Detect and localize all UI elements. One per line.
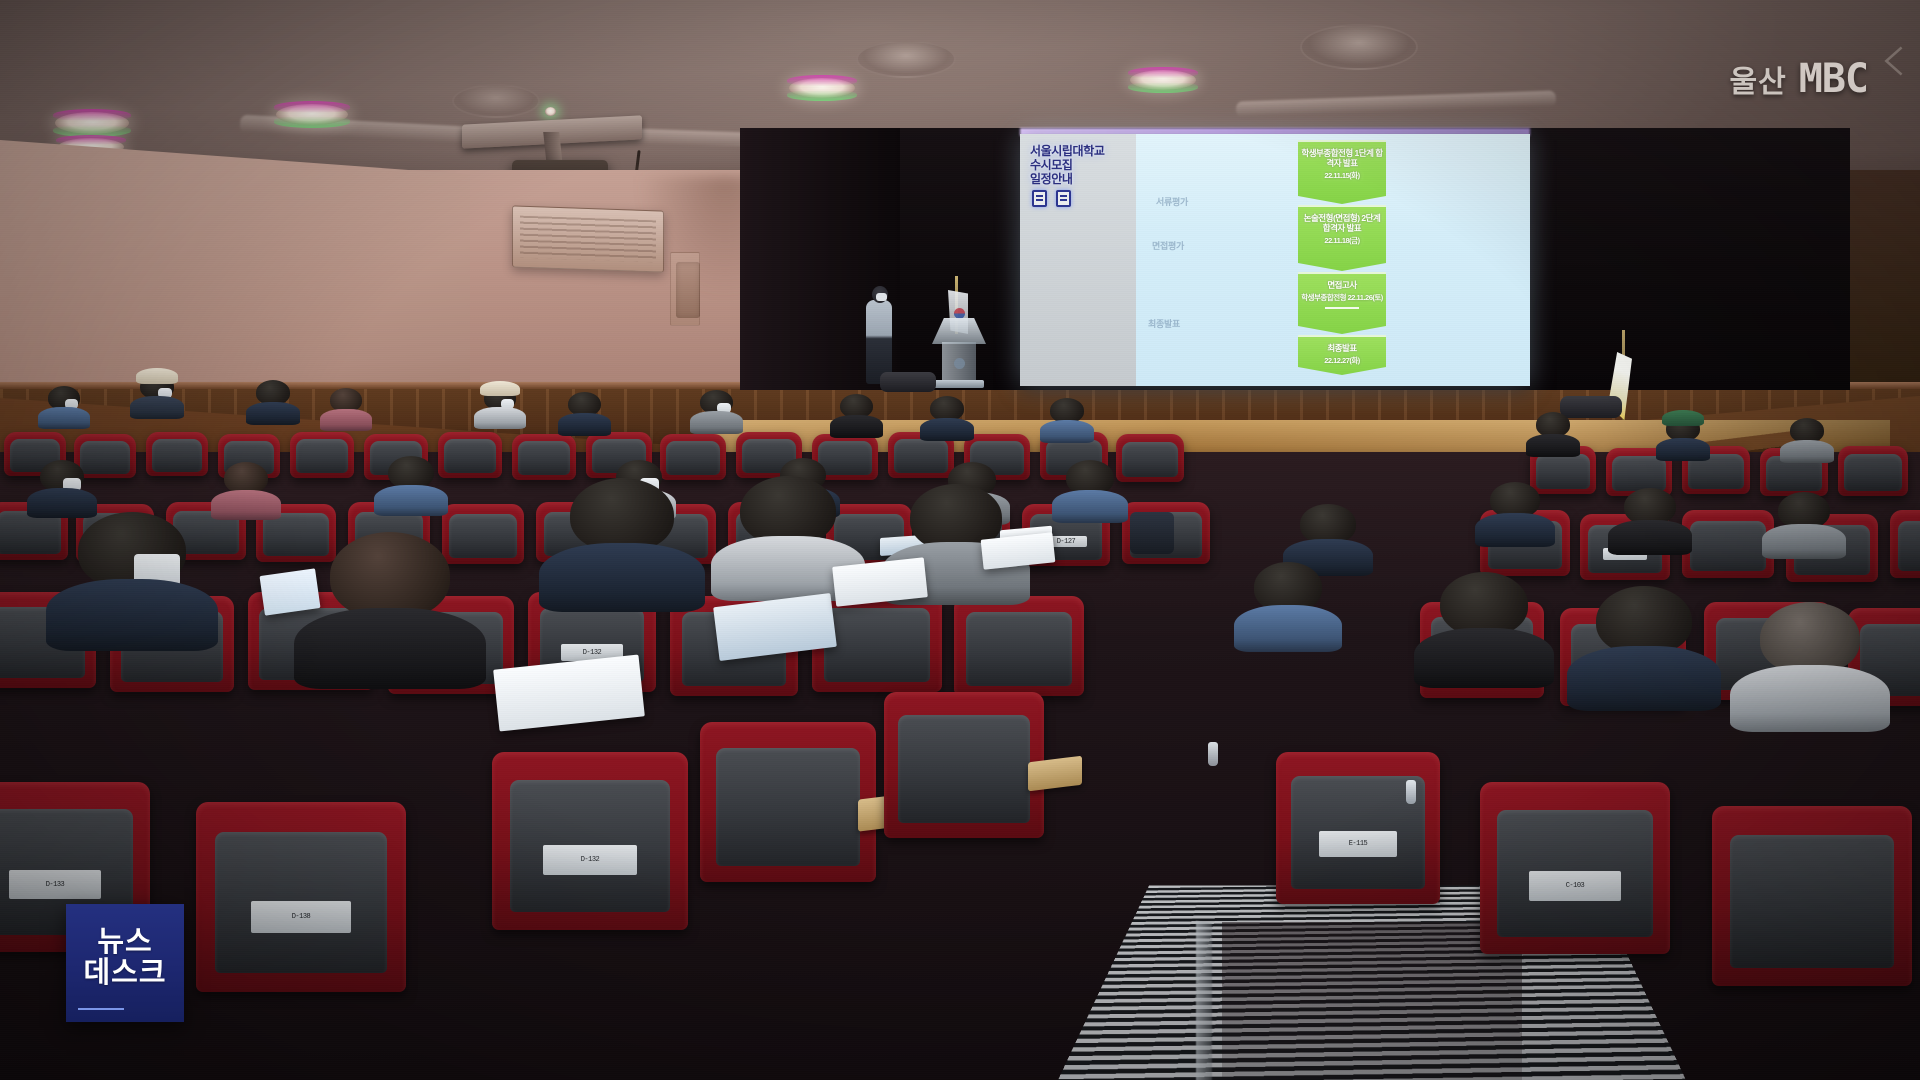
ceiling-vent-ring bbox=[856, 40, 956, 78]
water-bottle[interactable] bbox=[1406, 780, 1416, 804]
news-desk-program-logo: 뉴스 데스크 bbox=[66, 904, 184, 1022]
baseball-cap bbox=[480, 381, 520, 396]
seat[interactable]: D-132 bbox=[492, 752, 688, 930]
person-shoulders bbox=[38, 407, 89, 429]
lectern bbox=[932, 318, 986, 388]
slide-title: 서울시립대학교 수시모집 일정안내 bbox=[1030, 144, 1140, 186]
person-head bbox=[330, 532, 450, 619]
seat-back bbox=[1690, 521, 1765, 571]
lectern-base bbox=[934, 380, 984, 388]
seat[interactable] bbox=[1712, 806, 1912, 986]
person-shoulders bbox=[46, 579, 219, 651]
audience-member bbox=[1760, 602, 1860, 718]
seat-number-plate: E-115 bbox=[1319, 831, 1398, 857]
seat-back bbox=[1730, 835, 1894, 968]
admission-schedule-flowchart: 학생부종합전형 1단계 합격자 발표 22.11.15(화) 논술전형(면접형)… bbox=[1298, 140, 1386, 386]
lectern-emblem-icon bbox=[954, 358, 965, 369]
wall-hvac-unit bbox=[512, 205, 664, 272]
flow-step: 최종발표 22.12.27(화) bbox=[1298, 335, 1386, 375]
ceiling-downlight bbox=[789, 78, 855, 98]
seat-number-plate: D-132 bbox=[543, 845, 637, 875]
seat[interactable] bbox=[1890, 510, 1920, 578]
audience-member bbox=[484, 386, 516, 424]
seat[interactable]: C-103 bbox=[1480, 782, 1670, 954]
corner-bug-icon bbox=[1870, 44, 1906, 78]
person-shoulders bbox=[690, 411, 743, 434]
stage-monitor-speaker bbox=[880, 372, 936, 392]
seat-number-plate: D-138 bbox=[251, 901, 352, 933]
slide-left-label: 면접평가 bbox=[1152, 240, 1184, 252]
person-head bbox=[1596, 586, 1692, 655]
person-head bbox=[1760, 602, 1860, 674]
seat[interactable]: D-138 bbox=[196, 802, 406, 992]
person-shoulders bbox=[830, 415, 883, 438]
flow-step-title: 면접고사 bbox=[1300, 280, 1384, 290]
seat[interactable] bbox=[1682, 510, 1774, 578]
aisle-handrail[interactable] bbox=[1196, 921, 1212, 1080]
seat[interactable] bbox=[146, 432, 208, 476]
person-shoulders bbox=[539, 543, 705, 613]
audience-member bbox=[330, 388, 362, 426]
seat-back bbox=[518, 441, 570, 475]
audience-seating-area: D-127 D-132 bbox=[0, 452, 1920, 1080]
seat-back bbox=[894, 439, 948, 473]
person-shoulders bbox=[558, 413, 611, 436]
person-shoulders bbox=[374, 485, 448, 516]
audience-member bbox=[930, 396, 964, 436]
audience-member bbox=[256, 380, 290, 420]
backpack[interactable] bbox=[1130, 512, 1174, 554]
baseball-cap bbox=[1662, 410, 1704, 426]
flow-step-title: 최종발표 bbox=[1300, 343, 1384, 353]
lectern-top bbox=[932, 318, 986, 344]
document-icon bbox=[1056, 190, 1071, 207]
seat[interactable] bbox=[438, 432, 502, 478]
person-shoulders bbox=[1780, 440, 1834, 463]
baseball-cap bbox=[136, 368, 178, 384]
ceiling-vent-ring bbox=[1300, 24, 1418, 70]
seat[interactable] bbox=[290, 432, 354, 478]
person-shoulders bbox=[474, 407, 525, 429]
ceiling-indicator-light bbox=[545, 107, 556, 116]
slide-left-label: 서류평가 bbox=[1156, 196, 1188, 208]
audience-member bbox=[568, 392, 601, 431]
person-shoulders bbox=[1526, 434, 1580, 457]
audience-member bbox=[1254, 562, 1322, 642]
person-head bbox=[570, 478, 674, 552]
seat-back bbox=[444, 439, 496, 473]
audience-member bbox=[40, 460, 84, 512]
flow-step-title: 논술전형(면접형) 2단계 합격자 발표 bbox=[1300, 213, 1384, 233]
wall-acoustic-panel bbox=[670, 252, 700, 326]
seat-back bbox=[1122, 442, 1178, 478]
person-shoulders bbox=[130, 396, 184, 419]
person-shoulders bbox=[1234, 605, 1343, 651]
seat[interactable] bbox=[954, 596, 1084, 696]
audience-member bbox=[330, 532, 450, 672]
seat-number-plate: C-103 bbox=[1529, 871, 1620, 900]
seat-writing-tablet[interactable] bbox=[1028, 756, 1082, 792]
person-shoulders bbox=[1730, 665, 1890, 732]
flow-step-date: 학생부종합전형 22.11.26(토) bbox=[1300, 293, 1384, 303]
person-shoulders bbox=[1414, 628, 1555, 688]
seat[interactable] bbox=[442, 504, 524, 564]
person-shoulders bbox=[1608, 520, 1691, 555]
seat[interactable] bbox=[884, 692, 1044, 838]
flow-step-date: 22.11.15(화) bbox=[1300, 171, 1384, 181]
flow-step-date: 22.12.27(화) bbox=[1300, 356, 1384, 366]
person-shoulders bbox=[920, 418, 974, 441]
ceiling-downlight bbox=[1130, 70, 1196, 90]
slide-title-line-3: 일정안내 bbox=[1030, 172, 1140, 186]
document-icon bbox=[1032, 190, 1047, 207]
person-shoulders bbox=[1656, 438, 1710, 461]
flow-step: 학생부종합전형 1단계 합격자 발표 22.11.15(화) bbox=[1298, 140, 1386, 204]
seat[interactable] bbox=[660, 434, 726, 480]
slide-icon-row bbox=[1032, 190, 1071, 207]
seat-back bbox=[1898, 521, 1920, 571]
audience-member bbox=[1536, 412, 1570, 452]
seat-back bbox=[716, 748, 860, 866]
audience-member bbox=[840, 394, 873, 433]
person-shoulders bbox=[246, 402, 300, 425]
seat-back bbox=[966, 612, 1073, 686]
person-shoulders bbox=[1762, 524, 1845, 559]
slide-left-label: 최종발표 bbox=[1148, 318, 1180, 330]
person-head bbox=[1254, 562, 1322, 612]
audience-member bbox=[78, 512, 186, 636]
audience-member bbox=[48, 386, 80, 424]
seat-back bbox=[80, 441, 131, 474]
audience-member bbox=[1624, 488, 1676, 548]
audience-member bbox=[740, 476, 836, 588]
ceiling-downlight bbox=[55, 112, 129, 134]
slide-title-line-2: 수시모집 bbox=[1030, 158, 1140, 172]
tablet-device[interactable] bbox=[259, 568, 320, 615]
seat[interactable] bbox=[512, 434, 576, 480]
flow-step-divider bbox=[1325, 307, 1359, 309]
seat[interactable]: E-115 bbox=[1276, 752, 1440, 904]
person-shoulders bbox=[1567, 646, 1721, 711]
audience-member bbox=[388, 456, 434, 510]
open-notebook bbox=[493, 655, 645, 732]
seat-back bbox=[1536, 454, 1590, 490]
face-mask-icon bbox=[876, 293, 887, 301]
audience-member bbox=[1666, 416, 1700, 456]
person-shoulders bbox=[1475, 513, 1555, 547]
seat-number-plate: D-133 bbox=[9, 870, 100, 899]
seat[interactable] bbox=[700, 722, 876, 882]
audience-member bbox=[570, 478, 674, 598]
flow-step-title: 학생부종합전형 1단계 합격자 발표 bbox=[1300, 148, 1384, 168]
seat-back bbox=[1612, 456, 1666, 492]
flow-step: 논술전형(면접형) 2단계 합격자 발표 22.11.18(금) bbox=[1298, 205, 1386, 271]
broadcast-video-frame: 서울시립대학교 수시모집 일정안내 서류평가 면접평가 최종발표 학생부종합전형… bbox=[0, 0, 1920, 1080]
program-logo-underline bbox=[78, 1008, 124, 1010]
program-title-line-1: 뉴스 bbox=[97, 927, 152, 958]
flow-step: 면접고사 학생부종합전형 22.11.26(토) bbox=[1298, 272, 1386, 334]
seat-back bbox=[818, 441, 872, 475]
audience-member bbox=[1790, 418, 1824, 458]
audience-member bbox=[1050, 398, 1084, 438]
person-shoulders bbox=[1040, 420, 1094, 443]
ceiling-downlight bbox=[276, 104, 348, 125]
water-bottle[interactable] bbox=[1208, 742, 1218, 766]
slide-title-line-1: 서울시립대학교 bbox=[1030, 144, 1140, 158]
person-head bbox=[740, 476, 836, 545]
audience-member bbox=[140, 374, 174, 414]
audience-member bbox=[700, 390, 733, 429]
flow-step-date: 22.11.18(금) bbox=[1300, 236, 1384, 246]
seat-back bbox=[666, 441, 720, 475]
audience-member bbox=[1778, 492, 1830, 552]
audience-member bbox=[1300, 504, 1356, 568]
seat-back bbox=[898, 715, 1029, 823]
audience-member bbox=[1440, 572, 1528, 676]
seat-back bbox=[449, 514, 516, 558]
audience-member bbox=[224, 462, 268, 514]
audience-member bbox=[1066, 460, 1114, 516]
seat[interactable] bbox=[1838, 446, 1908, 496]
person-shoulders bbox=[211, 490, 281, 520]
program-title-line-2: 데스크 bbox=[83, 958, 166, 989]
person-head bbox=[1300, 504, 1356, 544]
seat-back bbox=[296, 439, 348, 473]
audience-member bbox=[1596, 586, 1692, 698]
seat-back bbox=[152, 439, 203, 472]
person-head bbox=[1440, 572, 1528, 636]
seat-back bbox=[1844, 454, 1901, 491]
seat[interactable] bbox=[1116, 434, 1184, 482]
person-shoulders bbox=[1052, 490, 1129, 522]
person-shoulders bbox=[320, 409, 371, 431]
ceiling-vent-ring bbox=[452, 84, 540, 118]
seat-back bbox=[824, 608, 931, 682]
audience-member bbox=[1490, 482, 1540, 540]
person-shoulders bbox=[294, 608, 486, 689]
